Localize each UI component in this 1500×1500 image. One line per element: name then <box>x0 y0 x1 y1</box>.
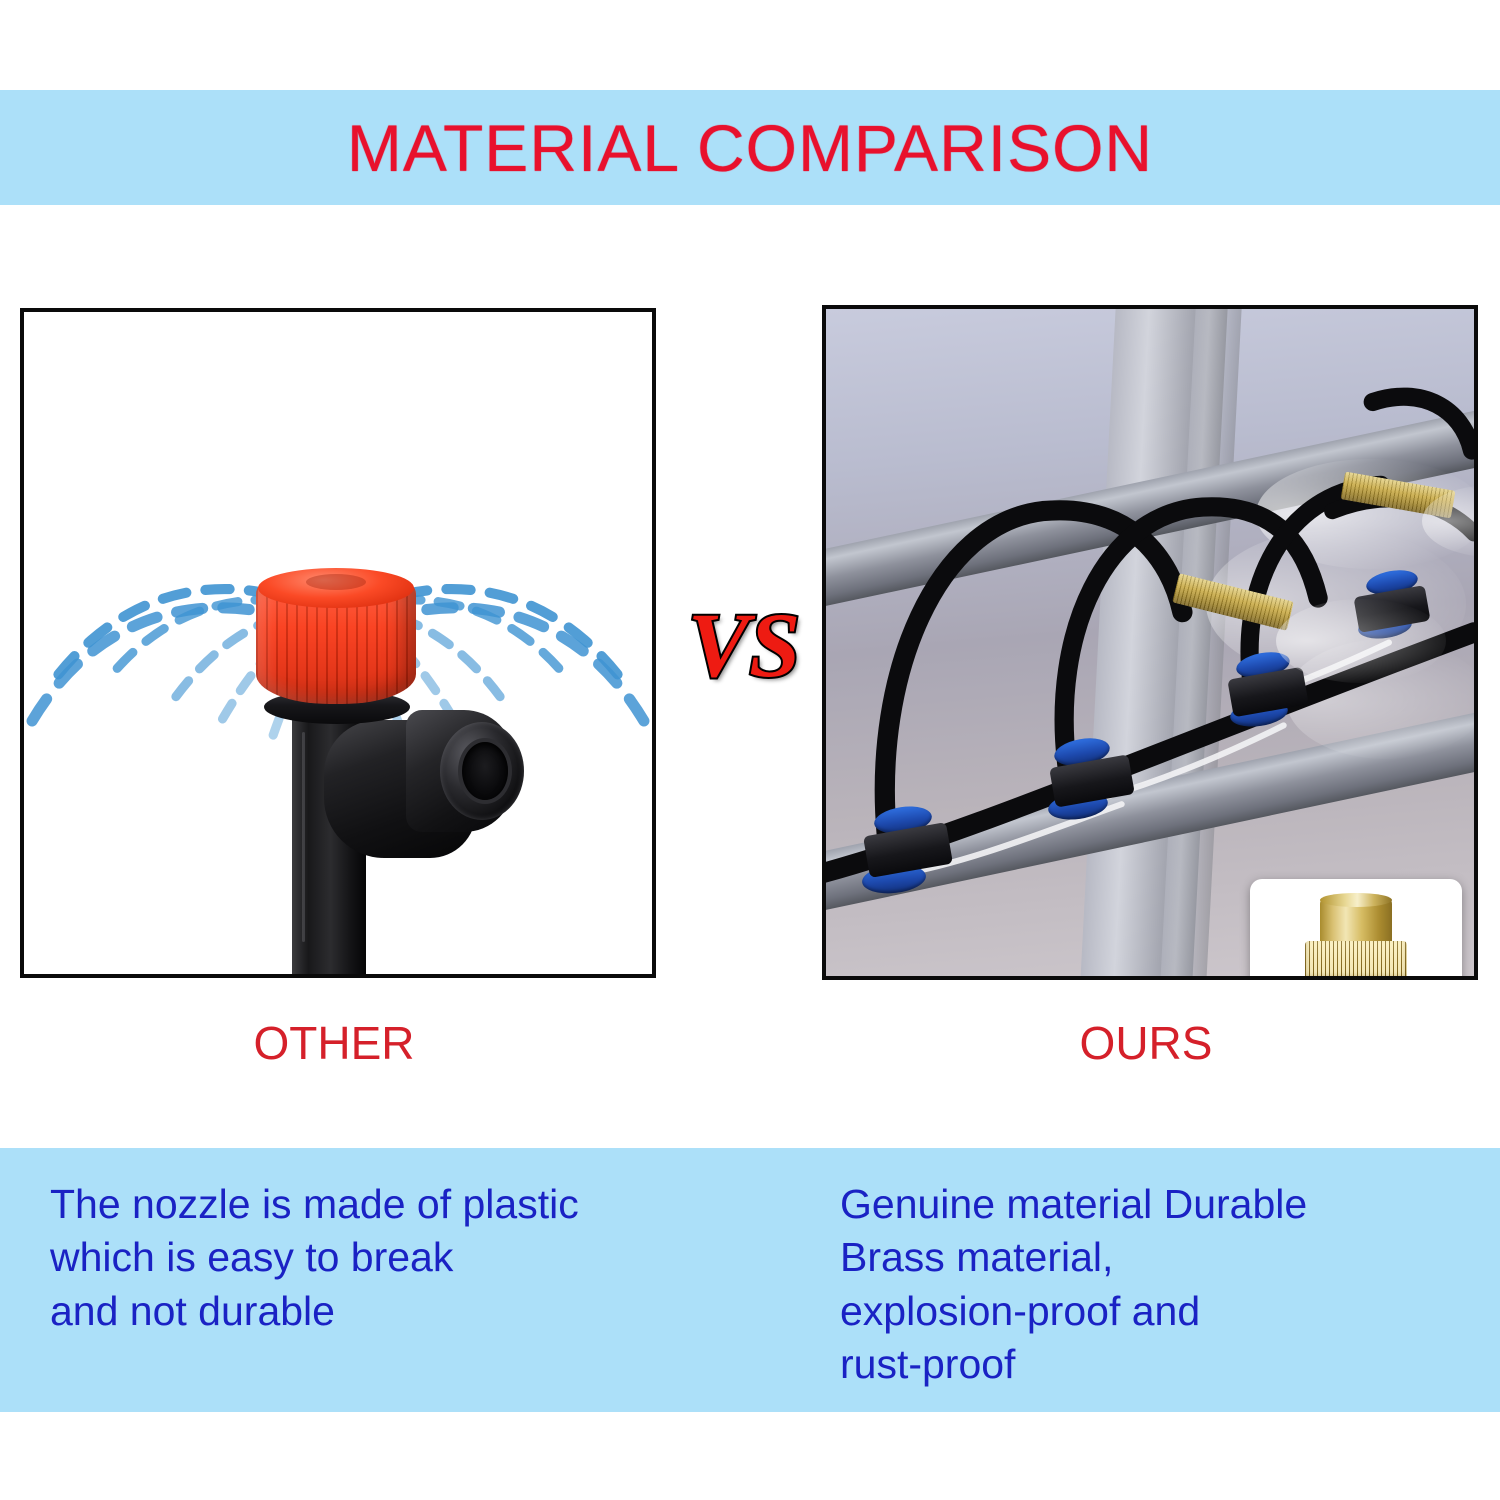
vs-badge: VS <box>674 603 814 687</box>
description-other: The nozzle is made of plastic which is e… <box>50 1178 770 1338</box>
page-title: MATERIAL COMPARISON <box>347 115 1153 181</box>
description-ours-line: Genuine material Durable <box>840 1178 1480 1231</box>
description-banner: The nozzle is made of plastic which is e… <box>0 1148 1500 1412</box>
red-cap-notch <box>306 574 366 590</box>
caption-ours: OURS <box>822 1020 1470 1066</box>
description-other-line: The nozzle is made of plastic <box>50 1178 770 1231</box>
brass-nozzle-tip <box>1320 893 1392 907</box>
title-banner: MATERIAL COMPARISON <box>0 90 1500 205</box>
description-ours: Genuine material Durable Brass material,… <box>840 1178 1480 1391</box>
stem-highlight <box>302 732 305 942</box>
other-product-photo <box>20 308 656 978</box>
description-ours-line: Brass material, <box>840 1231 1480 1284</box>
description-other-line: and not durable <box>50 1285 770 1338</box>
nozzle-spray <box>1276 599 1446 683</box>
ours-product-photo: APERTURE 0.5 MM <box>822 305 1478 980</box>
other-photo-stage <box>24 312 652 974</box>
description-ours-line: explosion-proof and <box>840 1285 1480 1338</box>
ours-photo-stage: APERTURE 0.5 MM <box>826 309 1474 976</box>
sprinkler-port-hole <box>462 742 508 800</box>
comparison-area: VS <box>0 205 1500 1148</box>
brass-nozzle-knurl-upper <box>1305 941 1407 980</box>
description-ours-line: rust-proof <box>840 1338 1480 1391</box>
caption-other: OTHER <box>20 1020 648 1066</box>
brass-nozzle-inset-card: APERTURE 0.5 MM <box>1250 879 1462 980</box>
description-other-line: which is easy to break <box>50 1231 770 1284</box>
